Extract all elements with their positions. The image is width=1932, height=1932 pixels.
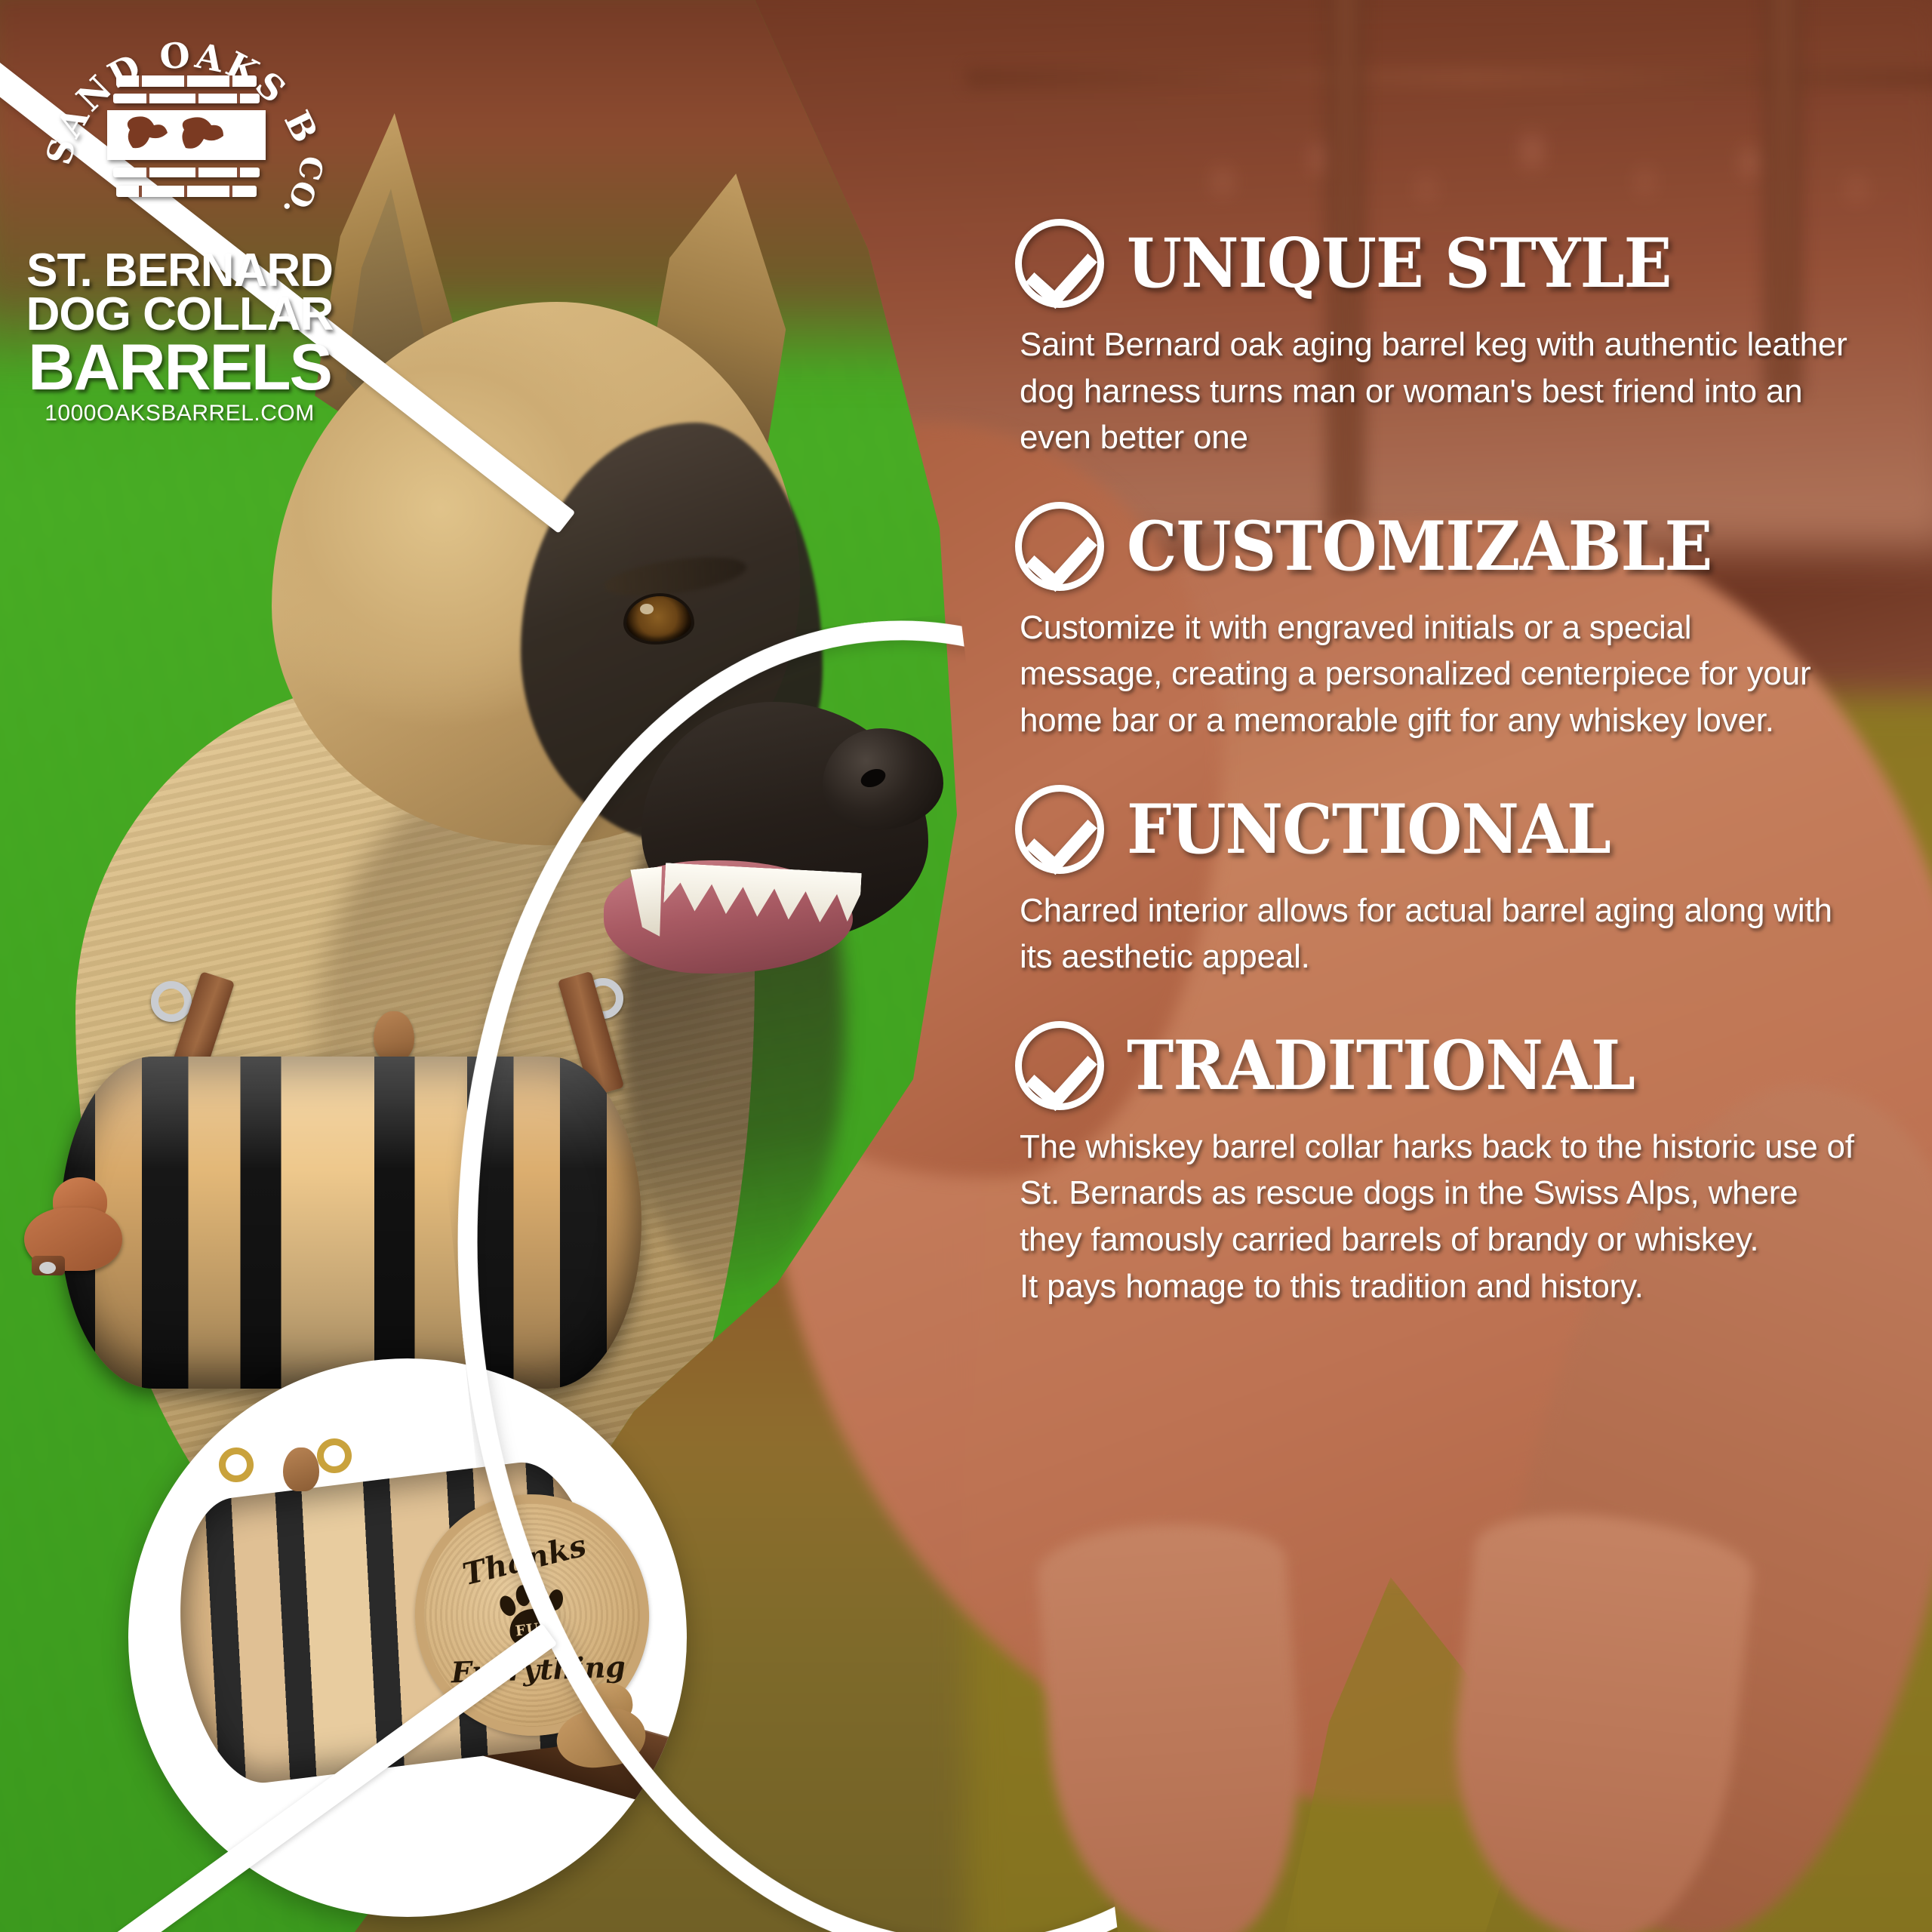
brand-line-2: DOG COLLAR bbox=[21, 293, 338, 337]
brand-wordmark: ST. BERNARD DOG COLLAR BARRELS 1000OAKSB… bbox=[21, 249, 338, 426]
brand-logo: THOUSAND OAKS BARREL CO. bbox=[21, 5, 376, 426]
feature-heading: UNIQUE STYLE bbox=[1015, 219, 1913, 308]
collar-barrel bbox=[60, 1057, 641, 1389]
barrel-stamp-icon: THOUSAND OAKS BARREL CO. bbox=[35, 5, 337, 254]
check-circle-icon bbox=[1015, 1021, 1104, 1110]
inset-barrel-bung bbox=[283, 1447, 319, 1491]
feature-item: CUSTOMIZABLE Customize it with engraved … bbox=[1015, 502, 1913, 744]
spigot-hole bbox=[39, 1262, 56, 1274]
collar-clip bbox=[314, 1435, 354, 1475]
feature-title: UNIQUE STYLE bbox=[1127, 229, 1671, 297]
barrel-spigot bbox=[14, 1177, 142, 1275]
brand-line-3: BARRELS bbox=[21, 337, 338, 398]
check-circle-icon bbox=[1015, 502, 1104, 591]
dog-eye-highlight bbox=[640, 604, 654, 614]
svg-text:CO.: CO. bbox=[275, 153, 330, 224]
background-dog-leg bbox=[1035, 1516, 1312, 1932]
feature-heading: TRADITIONAL bbox=[1015, 1021, 1913, 1110]
feature-title: FUNCTIONAL bbox=[1127, 795, 1611, 863]
feature-item: UNIQUE STYLE Saint Bernard oak aging bar… bbox=[1015, 219, 1913, 461]
infographic-canvas: Thanks FUR Everything THOUSAN bbox=[0, 0, 1932, 1932]
feature-description: Customize it with engraved initials or a… bbox=[1020, 605, 1820, 744]
feature-item: FUNCTIONAL Charred interior allows for a… bbox=[1015, 785, 1913, 980]
feature-heading: CUSTOMIZABLE bbox=[1015, 502, 1913, 591]
feature-description: Saint Bernard oak aging barrel keg with … bbox=[1020, 321, 1865, 461]
dog-eye bbox=[626, 596, 691, 641]
feature-heading: FUNCTIONAL bbox=[1015, 785, 1913, 874]
feature-title: CUSTOMIZABLE bbox=[1127, 512, 1712, 580]
brand-website: 1000OAKSBARREL.COM bbox=[21, 401, 338, 426]
feature-item: TRADITIONAL The whiskey barrel collar ha… bbox=[1015, 1021, 1913, 1309]
check-circle-icon bbox=[1015, 785, 1104, 874]
inset-spigot bbox=[546, 1676, 669, 1780]
collar-clip bbox=[216, 1444, 256, 1484]
barrel-sheen bbox=[60, 1057, 641, 1389]
feature-list: UNIQUE STYLE Saint Bernard oak aging bar… bbox=[1015, 219, 1913, 1350]
check-circle-icon bbox=[1015, 219, 1104, 308]
product-closeup-inset: Thanks FUR Everything bbox=[128, 1358, 687, 1917]
harness-ring bbox=[151, 981, 192, 1022]
feature-description: The whiskey barrel collar harks back to … bbox=[1020, 1124, 1865, 1309]
feature-title: TRADITIONAL bbox=[1127, 1032, 1635, 1100]
feature-description: Charred interior allows for actual barre… bbox=[1020, 888, 1865, 980]
barrel-bung bbox=[374, 1011, 414, 1061]
brand-line-1: ST. BERNARD bbox=[21, 249, 338, 293]
